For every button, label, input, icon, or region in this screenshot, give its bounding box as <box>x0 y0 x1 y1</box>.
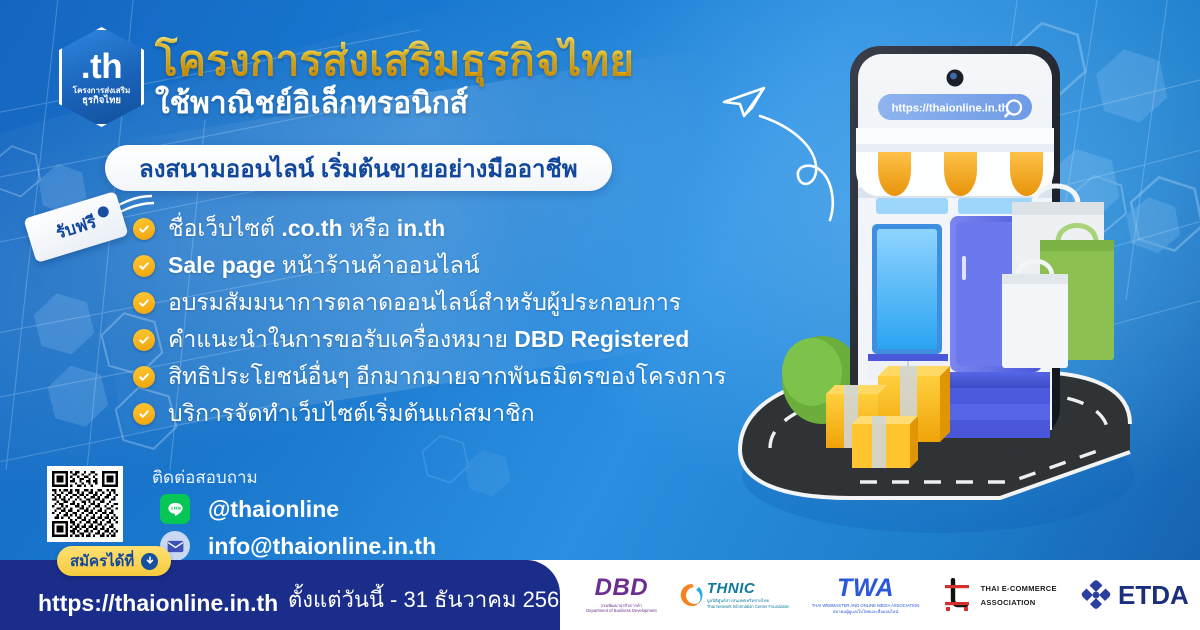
storefront-illustration: https://thaionline.in.th <box>700 20 1200 560</box>
logo-subline-2: ธุรกิจไทย <box>82 96 121 106</box>
download-arrow-icon <box>141 553 158 570</box>
tag-hole <box>96 205 110 219</box>
contact-email[interactable]: info@thaionline.in.th <box>160 531 436 561</box>
check-circle-icon <box>133 366 155 388</box>
benefit-text: บริการจัดทำเว็บไซต์เริ่มต้นแก่สมาชิก <box>168 396 535 432</box>
free-tag-label: รับฟรี <box>52 208 99 246</box>
tagline-pill: ลงสนามออนไลน์ เริ่มต้นขายอย่างมืออาชีพ <box>105 145 612 191</box>
line-id-text: @thaionline <box>208 496 339 523</box>
benefit-item: สิทธิประโยชน์อื่นๆ อีกมากมายจากพันธมิตรข… <box>133 358 733 395</box>
email-text: info@thaionline.in.th <box>208 533 436 560</box>
illustration-svg: https://thaionline.in.th <box>700 20 1200 560</box>
qr-code[interactable] <box>47 466 123 542</box>
check-circle-icon <box>133 403 155 425</box>
check-circle-icon <box>133 255 155 277</box>
benefit-item: อบรมสัมมนาการตลาดออนไลน์สำหรับผู้ประกอบก… <box>133 284 733 321</box>
check-circle-icon <box>133 218 155 240</box>
tag-body: รับฟรี <box>23 191 128 263</box>
download-arrow-glyph <box>145 556 155 566</box>
partner-logos: DBD กรมพัฒนาธุรกิจการค้า Department of B… <box>575 560 1200 630</box>
etda-mark-icon <box>1079 578 1113 612</box>
dbd-subtitle: กรมพัฒนาธุรกิจการค้า Department of Busin… <box>586 603 657 614</box>
benefit-item: บริการจัดทำเว็บไซต์เริ่มต้นแก่สมาชิก <box>133 395 733 432</box>
benefit-text: สิทธิประโยชน์อื่นๆ อีกมากมายจากพันธมิตรข… <box>168 359 726 395</box>
logo-subline-1: โครงการส่งเสริม <box>73 87 130 95</box>
partner-logo-etda: ETDA <box>1079 578 1189 612</box>
apply-label: สมัครได้ที่ <box>70 549 134 573</box>
line-icon <box>160 494 190 524</box>
qr-code-icon <box>52 471 118 537</box>
benefit-text: อบรมสัมมนาการตลาดออนไลน์สำหรับผู้ประกอบก… <box>168 285 681 321</box>
line-bubble-icon <box>166 500 185 519</box>
teca-mark-icon <box>942 578 972 612</box>
tagline-text: ลงสนามออนไลน์ เริ่มต้นขายอย่างมืออาชีพ <box>139 149 578 188</box>
phone-url-text: https://thaionline.in.th <box>892 103 1009 115</box>
apply-chip[interactable]: สมัครได้ที่ <box>57 546 171 576</box>
footer-date-range: ตั้งแต่วันนี้ - 31 ธันวาคม 2568 <box>288 582 572 617</box>
thnic-swirl-icon <box>679 582 705 608</box>
awning-icon <box>856 144 1054 196</box>
benefit-text: คำแนะนำในการขอรับเครื่องหมาย DBD Registe… <box>168 322 689 358</box>
thnic-wordmark: THNIC <box>707 581 755 596</box>
twa-subtitle: THAI WEBMASTER AND ONLINE MEDIA ASSOCIAT… <box>812 603 920 614</box>
envelope-glyph-icon <box>167 540 184 553</box>
shopping-bags-icon <box>1002 186 1114 368</box>
benefit-text: ชื่อเว็บไซต์ .co.th หรือ in.th <box>168 211 445 247</box>
check-circle-icon <box>133 329 155 351</box>
teca-line-1: THAI E-COMMERCE <box>981 584 1057 593</box>
contact-label: ติดต่อสอบถาม <box>152 464 258 491</box>
twa-wordmark: TWA <box>837 576 894 601</box>
teca-line-2: ASSOCIATION <box>981 598 1057 607</box>
logo-badge: .th โครงการส่งเสริม ธุรกิจไทย <box>59 27 144 127</box>
benefit-text: Sale page หน้าร้านค้าออนไลน์ <box>168 248 480 284</box>
benefit-item: Sale page หน้าร้านค้าออนไลน์ <box>133 247 733 284</box>
partner-logo-thnic: THNIC มูลนิธิศูนย์สารสนเทศเครือข่ายไทย T… <box>679 581 790 610</box>
partner-logo-twa: TWA THAI WEBMASTER AND ONLINE MEDIA ASSO… <box>812 576 920 615</box>
etda-wordmark: ETDA <box>1118 582 1189 608</box>
benefits-list: ชื่อเว็บไซต์ .co.th หรือ in.thSale page … <box>133 210 733 432</box>
benefit-item: คำแนะนำในการขอรับเครื่องหมาย DBD Registe… <box>133 321 733 358</box>
partner-logo-thai-ecommerce: THAI E-COMMERCE ASSOCIATION <box>942 578 1057 612</box>
check-circle-icon <box>133 292 155 314</box>
banner-canvas: .th โครงการส่งเสริม ธุรกิจไทย โครงการส่ง… <box>0 0 1200 630</box>
dbd-wordmark: DBD <box>595 576 649 600</box>
thnic-subtitle: มูลนิธิศูนย์สารสนเทศเครือข่ายไทย Thai Ne… <box>707 598 790 609</box>
logo-th-text: .th <box>81 49 122 84</box>
free-gift-tag: รับฟรี <box>24 196 140 258</box>
page-subtitle: ใช้พาณิชย์อิเล็กทรอนิกส์ <box>155 80 468 127</box>
partner-logo-dbd: DBD กรมพัฒนาธุรกิจการค้า Department of B… <box>586 576 657 614</box>
contact-line[interactable]: @thaionline <box>160 494 339 524</box>
benefit-item: ชื่อเว็บไซต์ .co.th หรือ in.th <box>133 210 733 247</box>
paper-plane-icon <box>724 88 764 116</box>
footer-url[interactable]: https://thaionline.in.th <box>38 590 278 617</box>
